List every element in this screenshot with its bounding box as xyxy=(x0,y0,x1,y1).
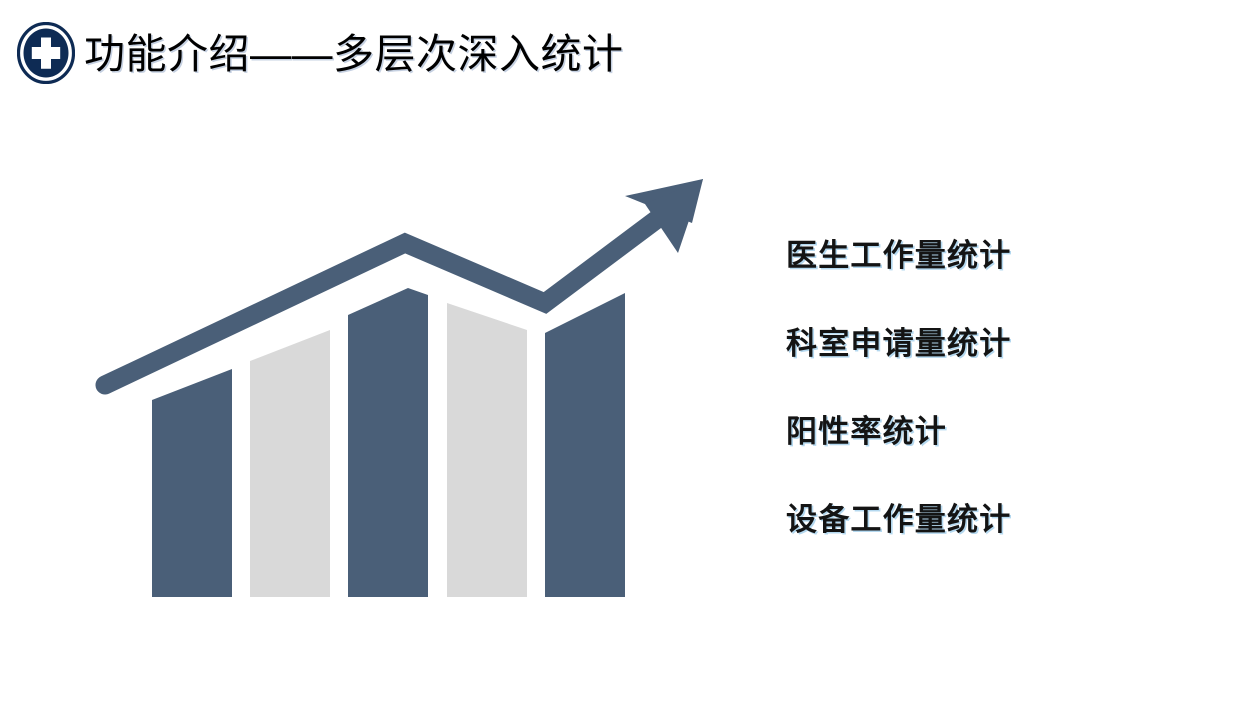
feature-item-department-requests: 科室申请量统计 xyxy=(786,324,1186,364)
chart-bar-4 xyxy=(447,303,527,597)
feature-item-positive-rate: 阳性率统计 xyxy=(786,412,1186,452)
feature-item-equipment-workload: 设备工作量统计 xyxy=(786,500,1186,540)
feature-list: 医生工作量统计 科室申请量统计 阳性率统计 设备工作量统计 xyxy=(786,236,1186,540)
slide-canvas: 功能介绍——多层次深入统计 xyxy=(0,0,1260,704)
medical-cross-circle-icon xyxy=(17,22,75,84)
chart-bar-3 xyxy=(348,288,428,597)
page-title: 功能介绍——多层次深入统计 xyxy=(84,28,624,80)
growth-bar-chart-arrow-illustration xyxy=(80,160,730,630)
slide-title-bar: 功能介绍——多层次深入统计 xyxy=(0,14,1260,94)
chart-bar-5 xyxy=(545,293,625,597)
feature-item-doctor-workload: 医生工作量统计 xyxy=(786,236,1186,276)
chart-bar-2 xyxy=(250,330,330,597)
chart-bar-1 xyxy=(152,369,232,597)
